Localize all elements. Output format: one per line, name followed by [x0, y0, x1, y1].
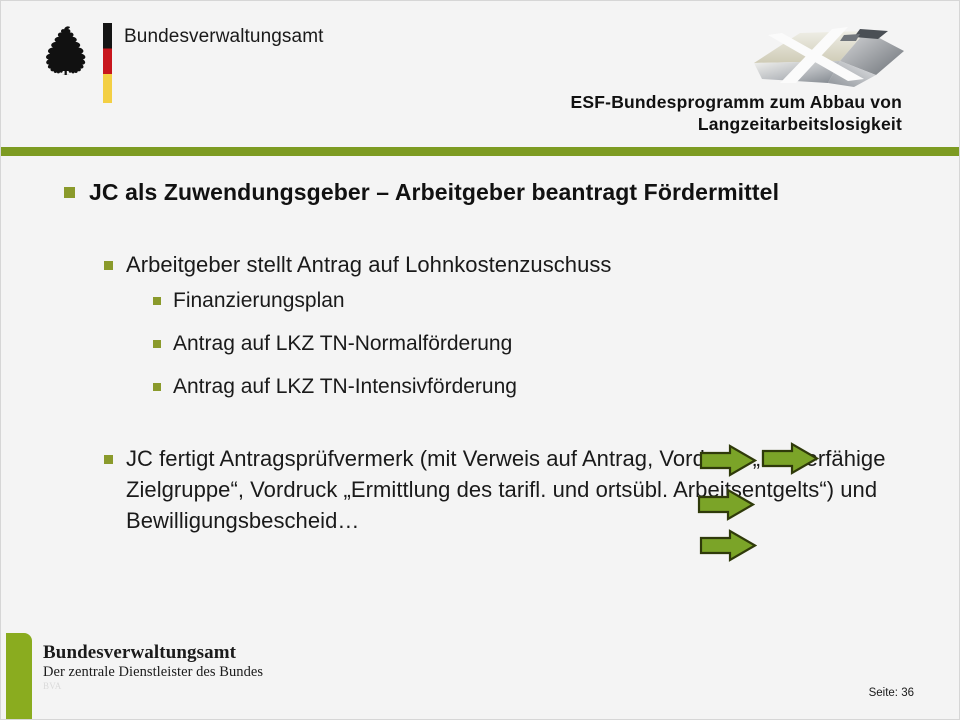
- square-bullet-icon: [153, 383, 161, 391]
- square-bullet-icon: [153, 297, 161, 305]
- slide-header: Bundesverwaltungsamt: [1, 1, 959, 147]
- right-arrow-icon: [697, 488, 755, 521]
- list-item: Arbeitgeber stellt Antrag auf Lohnkosten…: [104, 249, 894, 280]
- footer-logo-title: Bundesverwaltungsamt: [43, 642, 263, 663]
- footer-logo-faint-mark: BVA: [43, 681, 263, 691]
- right-arrow-icon: [699, 444, 757, 477]
- esf-abstract-logo-icon: [736, 21, 908, 91]
- list-item-label: Antrag auf LKZ TN-Intensivförderung: [173, 372, 517, 401]
- header-divider: [1, 147, 959, 156]
- program-title: ESF-Bundesprogramm zum Abbau von Langzei…: [282, 91, 902, 135]
- list-item: Antrag auf LKZ TN-Intensivförderung: [153, 372, 753, 401]
- header-org-name: Bundesverwaltungsamt: [124, 26, 324, 48]
- slide-title-row: JC als Zuwendungsgeber – Arbeitgeber bea…: [64, 177, 934, 207]
- footer-logo: Bundesverwaltungsamt Der zentrale Dienst…: [43, 642, 263, 691]
- program-title-line1: ESF-Bundesprogramm zum Abbau von: [282, 91, 902, 113]
- footer-accent-bar: [6, 633, 32, 719]
- german-flag-bar-icon: [103, 23, 112, 103]
- square-bullet-icon: [104, 261, 113, 270]
- square-bullet-icon: [104, 455, 113, 464]
- federal-eagle-icon: [41, 23, 95, 75]
- list-item-label: Arbeitgeber stellt Antrag auf Lohnkosten…: [126, 249, 611, 280]
- square-bullet-icon: [64, 187, 75, 198]
- footer-logo-subtitle: Der zentrale Dienstleister des Bundes: [43, 664, 263, 680]
- list-item-label: Finanzierungsplan: [173, 286, 345, 315]
- slide-content: JC als Zuwendungsgeber – Arbeitgeber bea…: [1, 161, 960, 621]
- square-bullet-icon: [153, 340, 161, 348]
- page-number: Seite: 36: [869, 687, 914, 699]
- program-title-line2: Langzeitarbeitslosigkeit: [282, 113, 902, 135]
- page-title: JC als Zuwendungsgeber – Arbeitgeber bea…: [89, 177, 779, 207]
- list-item-label: Antrag auf LKZ TN-Normalförderung: [173, 329, 512, 358]
- list-item: Antrag auf LKZ TN-Normalförderung: [153, 329, 753, 358]
- right-arrow-icon: [761, 442, 819, 475]
- right-arrow-icon: [699, 529, 757, 562]
- presentation-slide: Bundesverwaltungsamt: [0, 0, 960, 720]
- list-item: Finanzierungsplan: [153, 286, 753, 315]
